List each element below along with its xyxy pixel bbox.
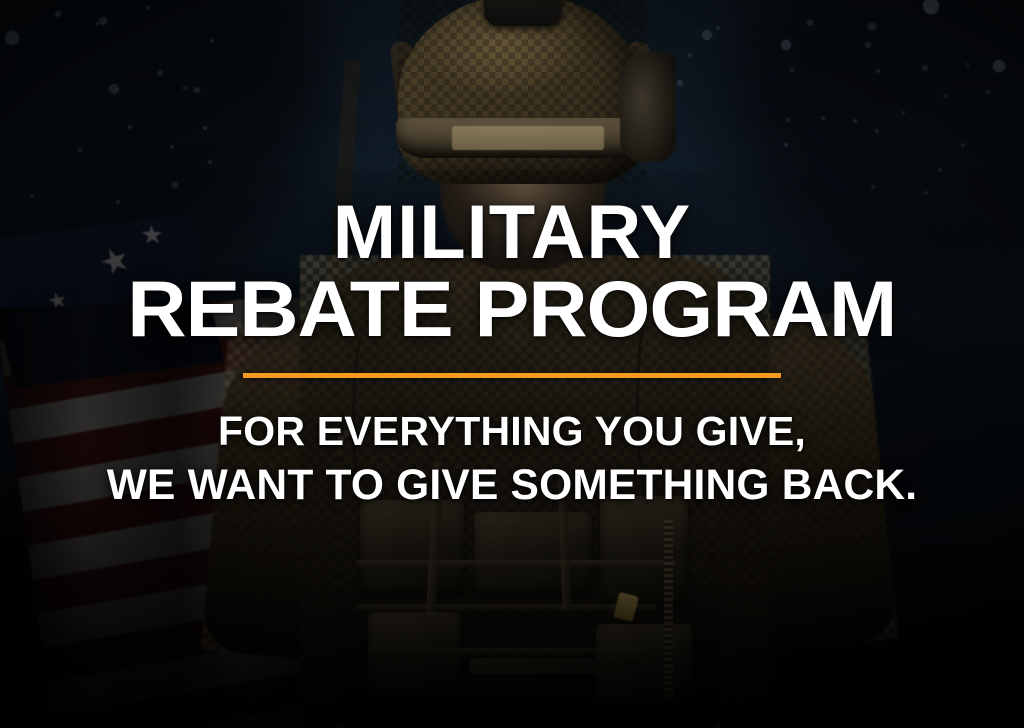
- headline-line-1: MILITARY: [142, 196, 881, 270]
- subheadline: FOR EVERYTHING YOU GIVE, WE WANT TO GIVE…: [107, 404, 918, 515]
- military-rebate-banner: ★★★★: [0, 0, 1024, 728]
- subheadline-line-1: FOR EVERYTHING YOU GIVE,: [107, 404, 918, 459]
- subheadline-line-2: WE WANT TO GIVE SOMETHING BACK.: [107, 458, 918, 515]
- orange-divider: [243, 373, 781, 378]
- page-title: MILITARY REBATE PROGRAM: [142, 196, 881, 348]
- banner-content: MILITARY REBATE PROGRAM FOR EVERYTHING Y…: [0, 0, 1024, 728]
- headline-line-2: REBATE PROGRAM: [127, 270, 896, 347]
